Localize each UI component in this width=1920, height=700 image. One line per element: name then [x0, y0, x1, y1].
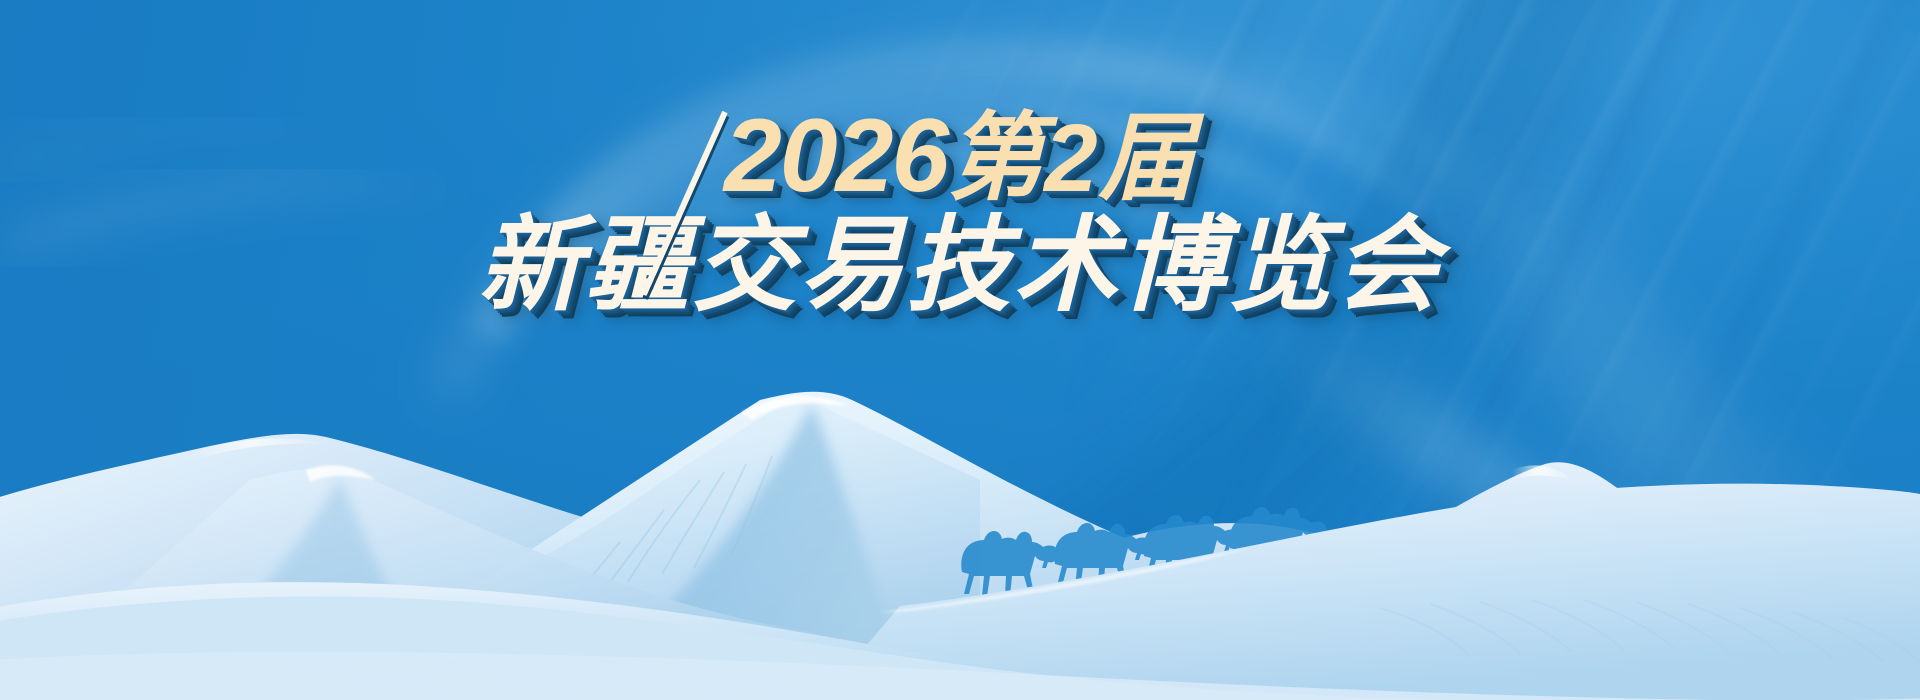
sky-left-tint — [0, 0, 1920, 700]
expo-hero-banner: 2026第2届 新疆交易技术博览会 — [0, 0, 1920, 700]
